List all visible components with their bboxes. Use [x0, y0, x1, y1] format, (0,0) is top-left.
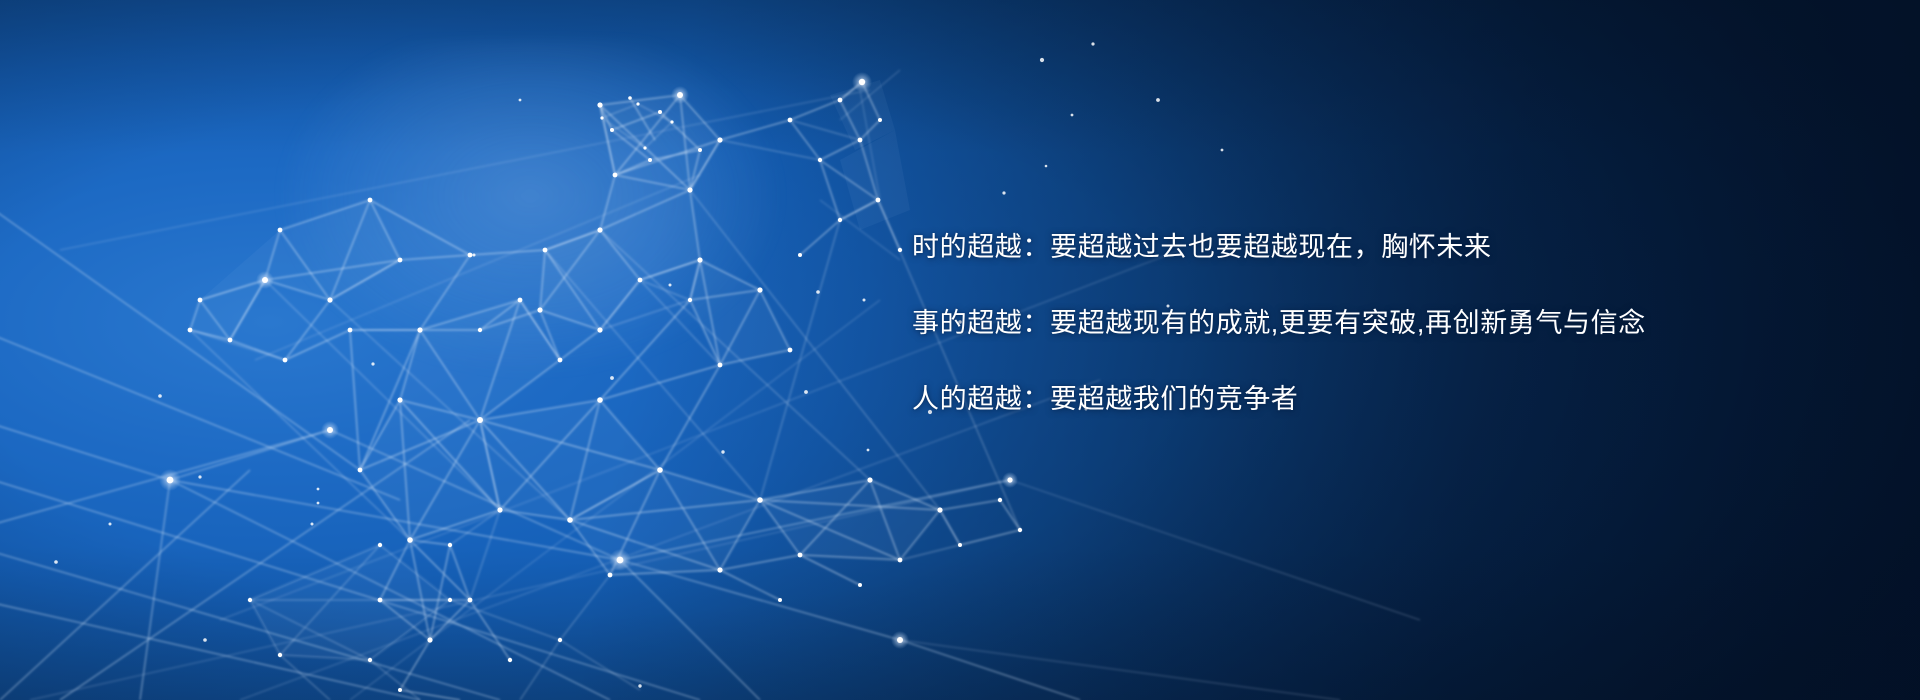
hero-banner: 时的超越：要超越过去也要超越现在，胸怀未来 事的超越：要超越现有的成就,更要有突… — [0, 0, 1920, 700]
tagline-matter: 事的超越：要超越现有的成就,更要有突破,再创新勇气与信念 — [912, 310, 1812, 337]
runner-mesh-fills — [190, 80, 940, 660]
tagline-time: 时的超越：要超越过去也要超越现在，胸怀未来 — [912, 234, 1812, 261]
tagline-block: 时的超越：要超越过去也要超越现在，胸怀未来 事的超越：要超越现有的成就,更要有突… — [912, 234, 1812, 413]
tagline-people: 人的超越：要超越我们的竞争者 — [912, 386, 1812, 413]
